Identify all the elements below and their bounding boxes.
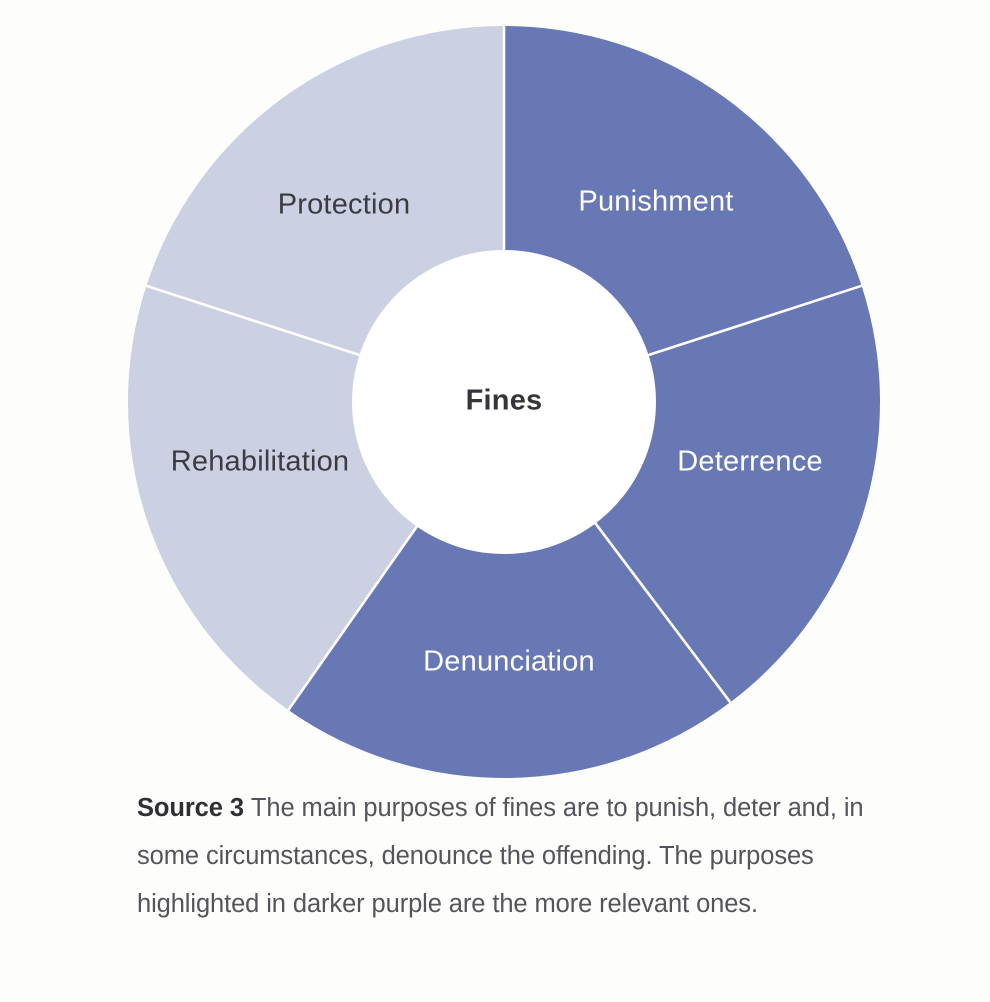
source-3-figure: Fines PunishmentDeterrenceDenunciationRe… [0,0,990,1002]
figure-caption: Source 3The main purposes of fines are t… [137,784,897,928]
donut-chart-svg: Fines PunishmentDeterrenceDenunciationRe… [0,0,990,790]
caption-source-label: Source 3 [137,794,244,822]
donut-slice-label-protection: Protection [278,189,411,221]
donut-chart: Fines PunishmentDeterrenceDenunciationRe… [0,0,990,790]
donut-center-label: Fines [466,385,543,417]
donut-slice-label-punishment: Punishment [578,186,733,218]
donut-slice-label-deterrence: Deterrence [677,446,822,478]
donut-slice-label-denunciation: Denunciation [423,646,595,678]
donut-slice-label-rehabilitation: Rehabilitation [171,446,350,478]
caption-body-text: The main purposes of fines are to punish… [137,794,863,918]
